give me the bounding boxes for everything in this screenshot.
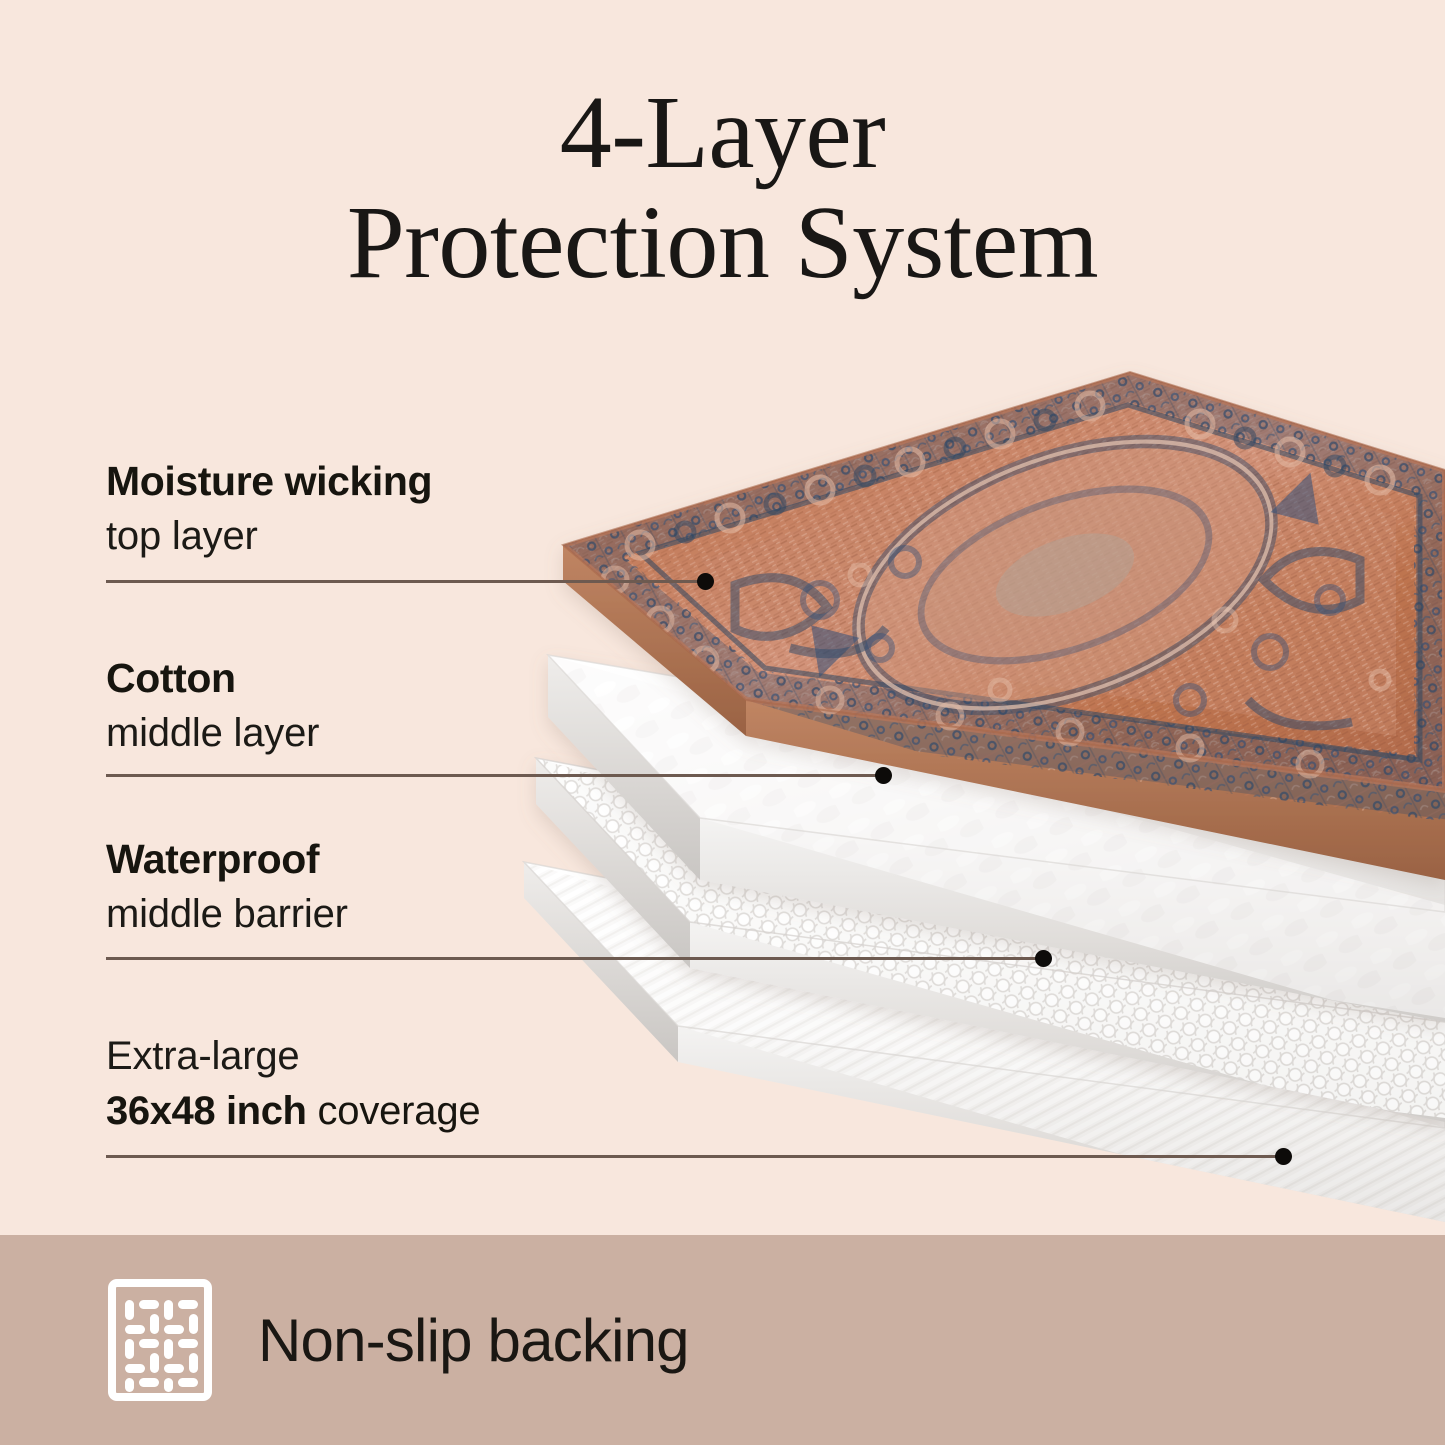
stack-layer-waterproof-barrier [536, 758, 1445, 1122]
non-slip-backing-label: Non-slip backing [258, 1306, 689, 1375]
callout-size-dimensions: 36x48 inch [106, 1089, 307, 1133]
stack-layer-non-slip-backing [524, 862, 1445, 1222]
non-slip-backing-banner: Non-slip backing [0, 1235, 1445, 1445]
callout-title-cotton: Cotton [106, 655, 319, 702]
leader-dot-cotton [875, 767, 892, 784]
callout-title-waterproof: Waterproof [106, 836, 348, 883]
stack-layer-rug-top [563, 372, 1445, 880]
callout-waterproof: Waterproof middle barrier [106, 836, 348, 938]
callout-cotton: Cotton middle layer [106, 655, 319, 757]
leader-line-moisture-wicking [106, 580, 706, 583]
callout-subtitle-moisture-wicking: top layer [106, 512, 432, 560]
callout-title-moisture-wicking: Moisture wicking [106, 458, 432, 505]
callout-size: Extra-large 36x48 inch coverage [106, 1032, 480, 1135]
title-line-2: Protection System [0, 188, 1445, 298]
stack-layer-cotton-middle [548, 655, 1445, 1022]
callout-subtitle-cotton: middle layer [106, 709, 319, 757]
callout-size-line1: Extra-large [106, 1032, 480, 1080]
infographic-page: 4-Layer Protection System [0, 0, 1445, 1445]
callout-moisture-wicking: Moisture wicking top layer [106, 458, 432, 560]
non-slip-grip-pattern-icon [108, 1279, 212, 1401]
callout-size-line2: 36x48 inch coverage [106, 1087, 480, 1135]
leader-line-waterproof [106, 957, 1044, 960]
leader-dot-waterproof [1035, 950, 1052, 967]
leader-line-size [106, 1155, 1284, 1158]
page-title: 4-Layer Protection System [0, 78, 1445, 298]
leader-line-cotton [106, 774, 884, 777]
callout-size-coverage-word: coverage [307, 1089, 481, 1133]
callout-subtitle-waterproof: middle barrier [106, 890, 348, 938]
leader-dot-moisture-wicking [697, 573, 714, 590]
title-line-1: 4-Layer [0, 78, 1445, 188]
leader-dot-size [1275, 1148, 1292, 1165]
